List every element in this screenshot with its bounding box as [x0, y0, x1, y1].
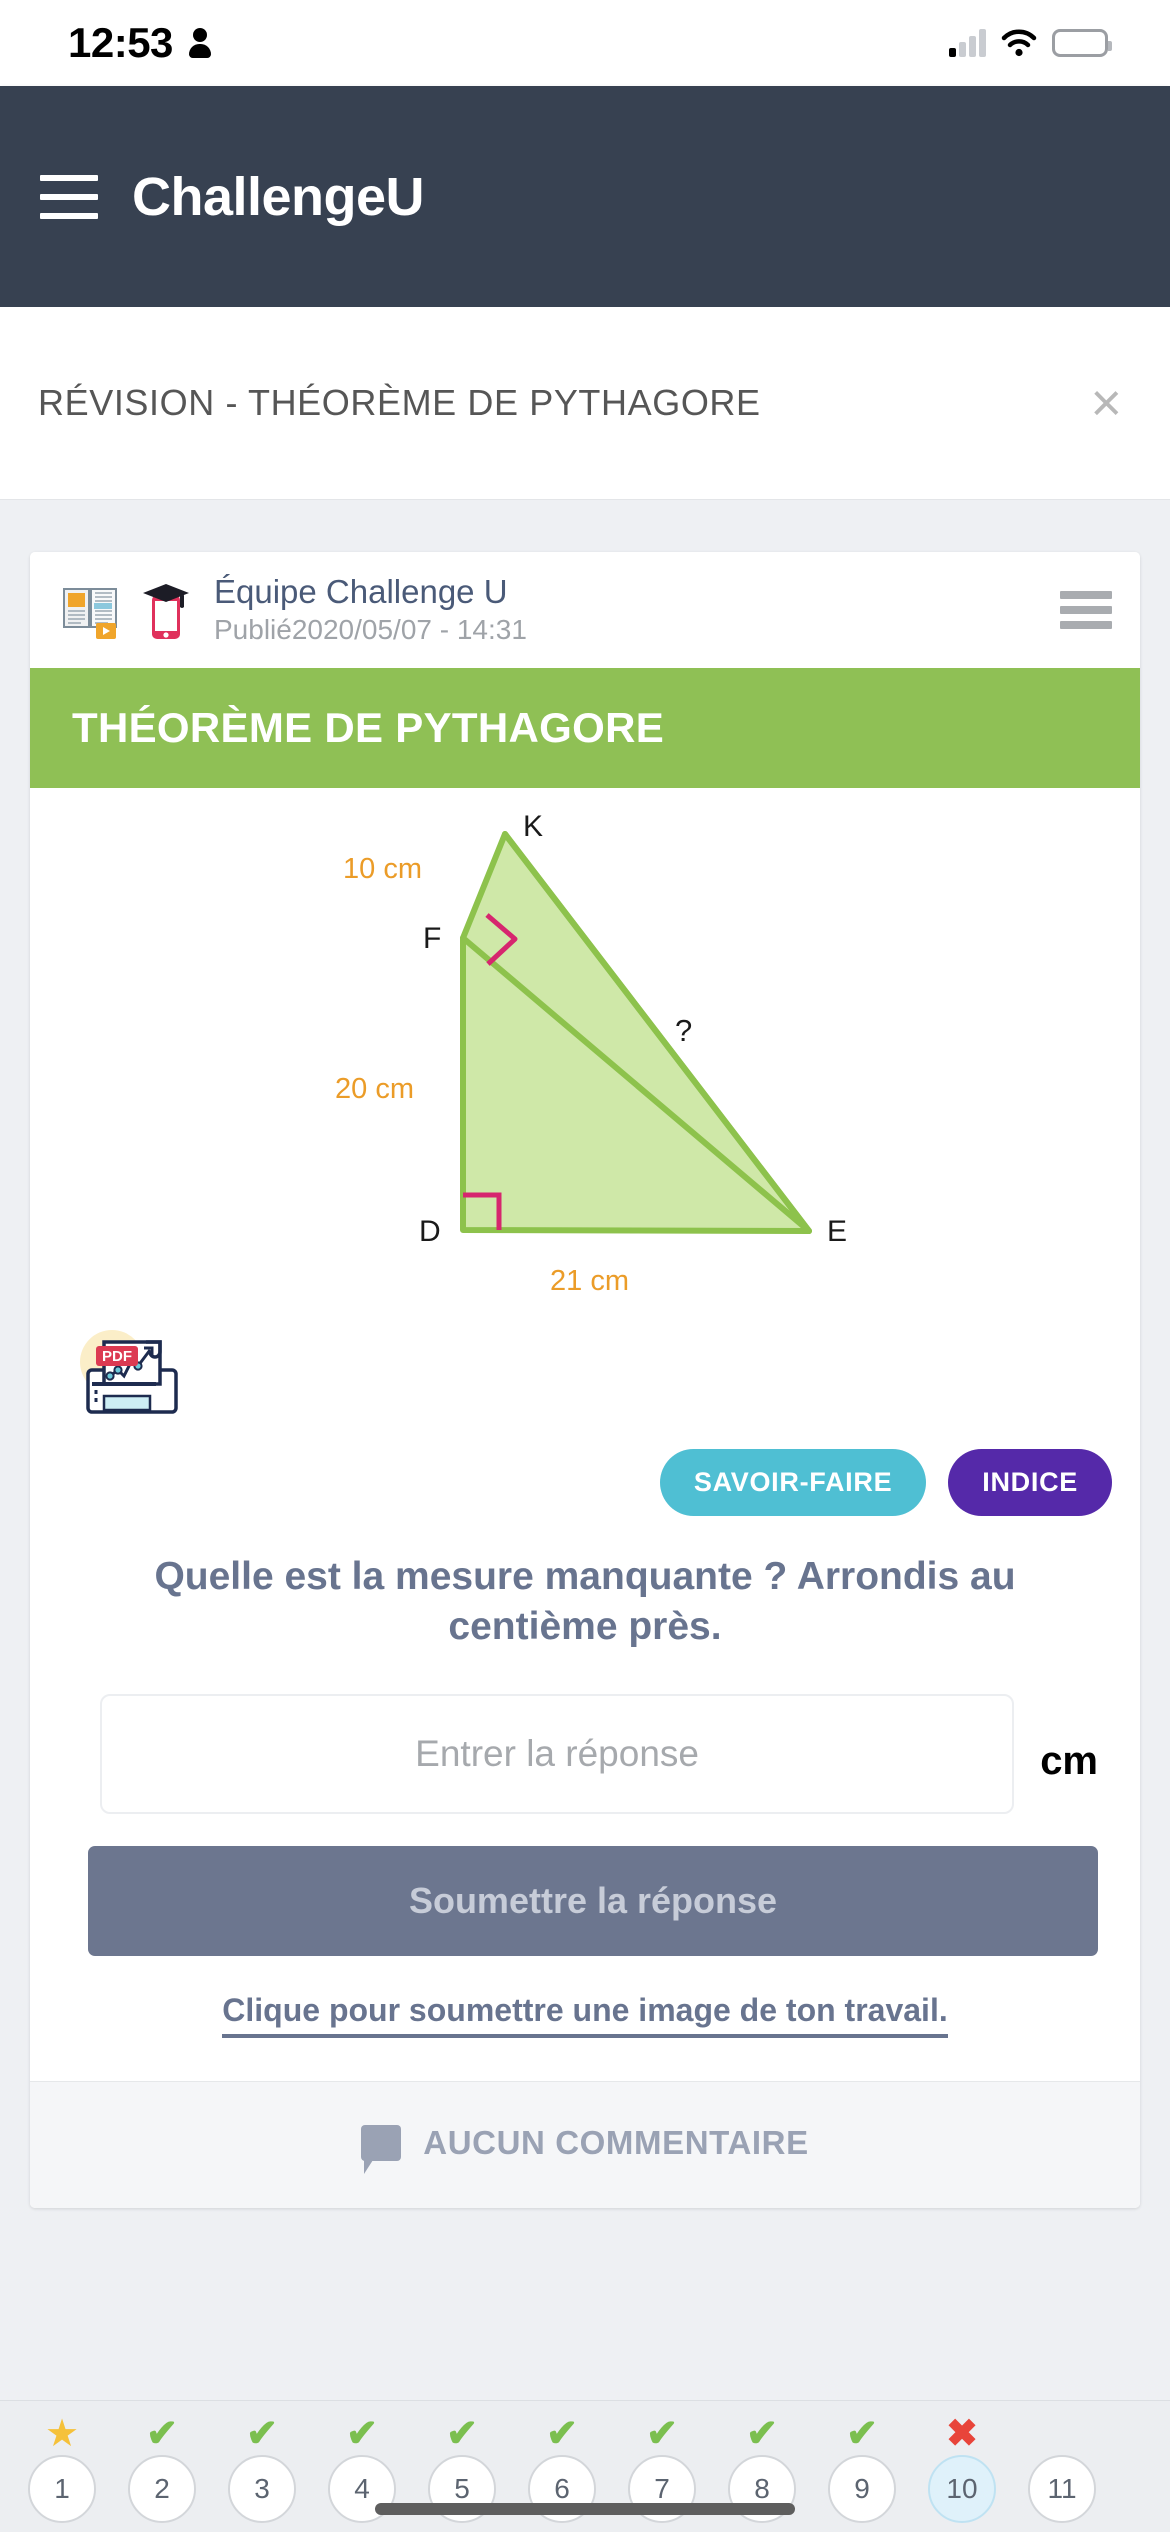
- pagination-number: 2: [128, 2455, 196, 2523]
- comments-count-label: AUCUN COMMENTAIRE: [423, 2124, 808, 2162]
- triangle-diagram-svg: K F D E 10 cm 20 cm 21 cm ?: [205, 798, 965, 1298]
- comments-bar[interactable]: AUCUN COMMENTAIRE: [30, 2081, 1140, 2208]
- pagination-number: 1: [28, 2455, 96, 2523]
- published-date: Publié2020/05/07 - 14:31: [214, 614, 1060, 646]
- mobile-screen: 12:53 ChallengeU RÉVIS: [0, 0, 1170, 2532]
- pagination-item-10[interactable]: ✖ 10: [914, 2415, 1010, 2523]
- check-icon: ✔: [346, 2415, 378, 2455]
- home-indicator: [375, 2503, 795, 2515]
- check-icon: ✔: [546, 2415, 578, 2455]
- check-icon: ✔: [846, 2415, 878, 2455]
- signal-bars-icon: [949, 29, 986, 57]
- pagination-item-11[interactable]: 11: [1014, 2415, 1110, 2523]
- activity-card: Équipe Challenge U Publié2020/05/07 - 14…: [30, 552, 1140, 2208]
- hamburger-menu-icon[interactable]: [40, 175, 98, 219]
- vertex-label-F: F: [423, 922, 441, 955]
- vertex-label-E: E: [827, 1215, 847, 1248]
- vertex-label-K: K: [523, 810, 543, 843]
- pagination-number: 11: [1028, 2455, 1096, 2523]
- pagination-item-3[interactable]: ✔ 3: [214, 2415, 310, 2523]
- measure-label-fd: 20 cm: [335, 1073, 414, 1105]
- pdf-attachment-row: PDF: [30, 1304, 1140, 1433]
- person-icon: [189, 28, 211, 58]
- pagination-item-9[interactable]: ✔ 9: [814, 2415, 910, 2523]
- open-book-video-icon: [60, 579, 122, 641]
- submit-answer-button[interactable]: Soumettre la réponse: [88, 1846, 1098, 1956]
- status-bar-left: 12:53: [68, 19, 211, 67]
- pagination-item-2[interactable]: ✔ 2: [114, 2415, 210, 2523]
- close-icon[interactable]: ×: [1090, 376, 1122, 430]
- geometry-figure: K F D E 10 cm 20 cm 21 cm ?: [30, 788, 1140, 1304]
- card-author-block: Équipe Challenge U Publié2020/05/07 - 14…: [214, 574, 1060, 646]
- graduation-cap-phone-icon: [140, 579, 192, 641]
- submit-row: Soumettre la réponse: [30, 1824, 1140, 1956]
- help-buttons-row: SAVOIR-FAIRE INDICE: [30, 1433, 1140, 1526]
- pagination-number: 9: [828, 2455, 896, 2523]
- submit-image-link[interactable]: Clique pour soumettre une image de ton t…: [222, 1992, 947, 2038]
- answer-row: cm: [30, 1670, 1140, 1824]
- indice-button[interactable]: INDICE: [948, 1449, 1112, 1516]
- vertex-label-D: D: [419, 1215, 441, 1248]
- content-area: Équipe Challenge U Publié2020/05/07 - 14…: [0, 500, 1170, 2485]
- measure-label-fk: 10 cm: [343, 853, 422, 885]
- x-icon: ✖: [946, 2415, 978, 2455]
- answer-unit-label: cm: [1040, 1739, 1098, 1814]
- status-bar: 12:53: [0, 0, 1170, 86]
- measure-label-de: 21 cm: [550, 1265, 629, 1297]
- app-header: ChallengeU: [0, 86, 1170, 307]
- check-icon: ✔: [246, 2415, 278, 2455]
- savoir-faire-button[interactable]: SAVOIR-FAIRE: [660, 1449, 926, 1516]
- status-bar-right: [949, 29, 1108, 57]
- question-text: Quelle est la mesure manquante ? Arrondi…: [30, 1526, 1140, 1670]
- pdf-badge-label: PDF: [102, 1348, 132, 1365]
- answer-input[interactable]: [100, 1694, 1014, 1814]
- pagination-number: 10: [928, 2455, 996, 2523]
- author-name: Équipe Challenge U: [214, 574, 1060, 610]
- submit-image-row: Clique pour soumettre une image de ton t…: [30, 1956, 1140, 2081]
- pagination-number: 3: [228, 2455, 296, 2523]
- brand-title: ChallengeU: [132, 166, 424, 228]
- status-time: 12:53: [68, 19, 173, 67]
- pagination-item-1[interactable]: ★ 1: [14, 2415, 110, 2523]
- pdf-printer-icon[interactable]: PDF: [72, 1409, 192, 1426]
- card-header: Équipe Challenge U Publié2020/05/07 - 14…: [30, 552, 1140, 668]
- page-title: RÉVISION - THÉORÈME DE PYTHAGORE: [38, 382, 761, 424]
- check-icon: ✔: [446, 2415, 478, 2455]
- comment-bubble-icon: [361, 2125, 401, 2161]
- measure-label-unknown: ?: [675, 1013, 692, 1048]
- card-options-menu-icon[interactable]: [1060, 591, 1112, 629]
- check-icon: ✔: [146, 2415, 178, 2455]
- lesson-banner-title: THÉORÈME DE PYTHAGORE: [72, 704, 1098, 752]
- battery-icon: [1052, 29, 1108, 57]
- check-icon: ✔: [746, 2415, 778, 2455]
- wifi-icon: [1000, 29, 1038, 57]
- star-icon: ★: [45, 2415, 79, 2455]
- card-header-icons: [60, 579, 192, 641]
- check-icon: ✔: [646, 2415, 678, 2455]
- lesson-banner: THÉORÈME DE PYTHAGORE: [30, 668, 1140, 788]
- activity-title-bar: RÉVISION - THÉORÈME DE PYTHAGORE ×: [0, 307, 1170, 500]
